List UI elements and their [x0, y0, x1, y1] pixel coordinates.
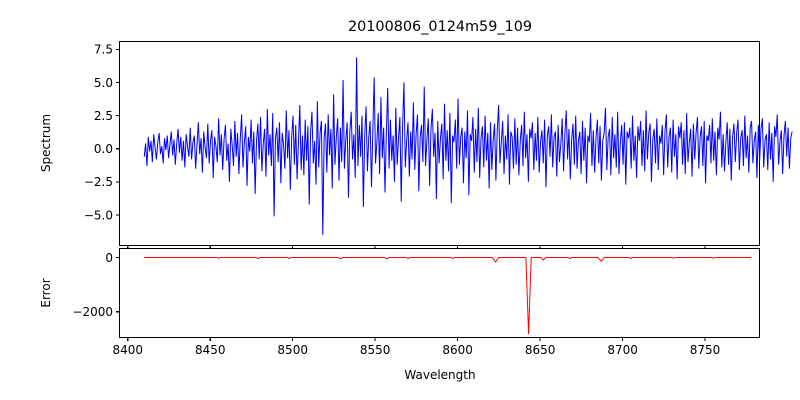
y-tick-label: 0 [105, 251, 113, 265]
y-tick-label: 7.5 [94, 43, 113, 57]
spectrum-panel: 7.55.02.50.0−2.5−5.0 Spectrum [39, 42, 792, 250]
x-axis-label: Wavelength [404, 368, 475, 382]
x-tick-label: 8550 [360, 343, 391, 357]
error-axis-label: Error [39, 278, 53, 307]
x-tick-label: 8650 [525, 343, 556, 357]
matplotlib-canvas: 20100806_0124m59_109 7.55.02.50.0−2.5−5.… [0, 0, 800, 400]
y-tick-label: 5.0 [94, 76, 113, 90]
y-tick-label: −5.0 [84, 208, 113, 222]
x-tick-label: 8500 [277, 343, 308, 357]
x-tick-label: 8600 [442, 343, 473, 357]
x-tick-label: 8750 [690, 343, 721, 357]
x-tick-label: 8700 [607, 343, 638, 357]
spectrum-axis-label: Spectrum [39, 114, 53, 172]
y-tick-label: −2.5 [84, 175, 113, 189]
spectrum-figure: 20100806_0124m59_109 7.55.02.50.0−2.5−5.… [0, 0, 800, 400]
error-plot-area [120, 249, 760, 338]
y-tick-label: 2.5 [94, 109, 113, 123]
x-tick-label: 8400 [112, 343, 143, 357]
figure-title: 20100806_0124m59_109 [348, 19, 532, 35]
y-tick-label: −2000 [72, 305, 113, 319]
y-tick-label: 0.0 [94, 142, 113, 156]
x-tick-label: 8450 [195, 343, 226, 357]
